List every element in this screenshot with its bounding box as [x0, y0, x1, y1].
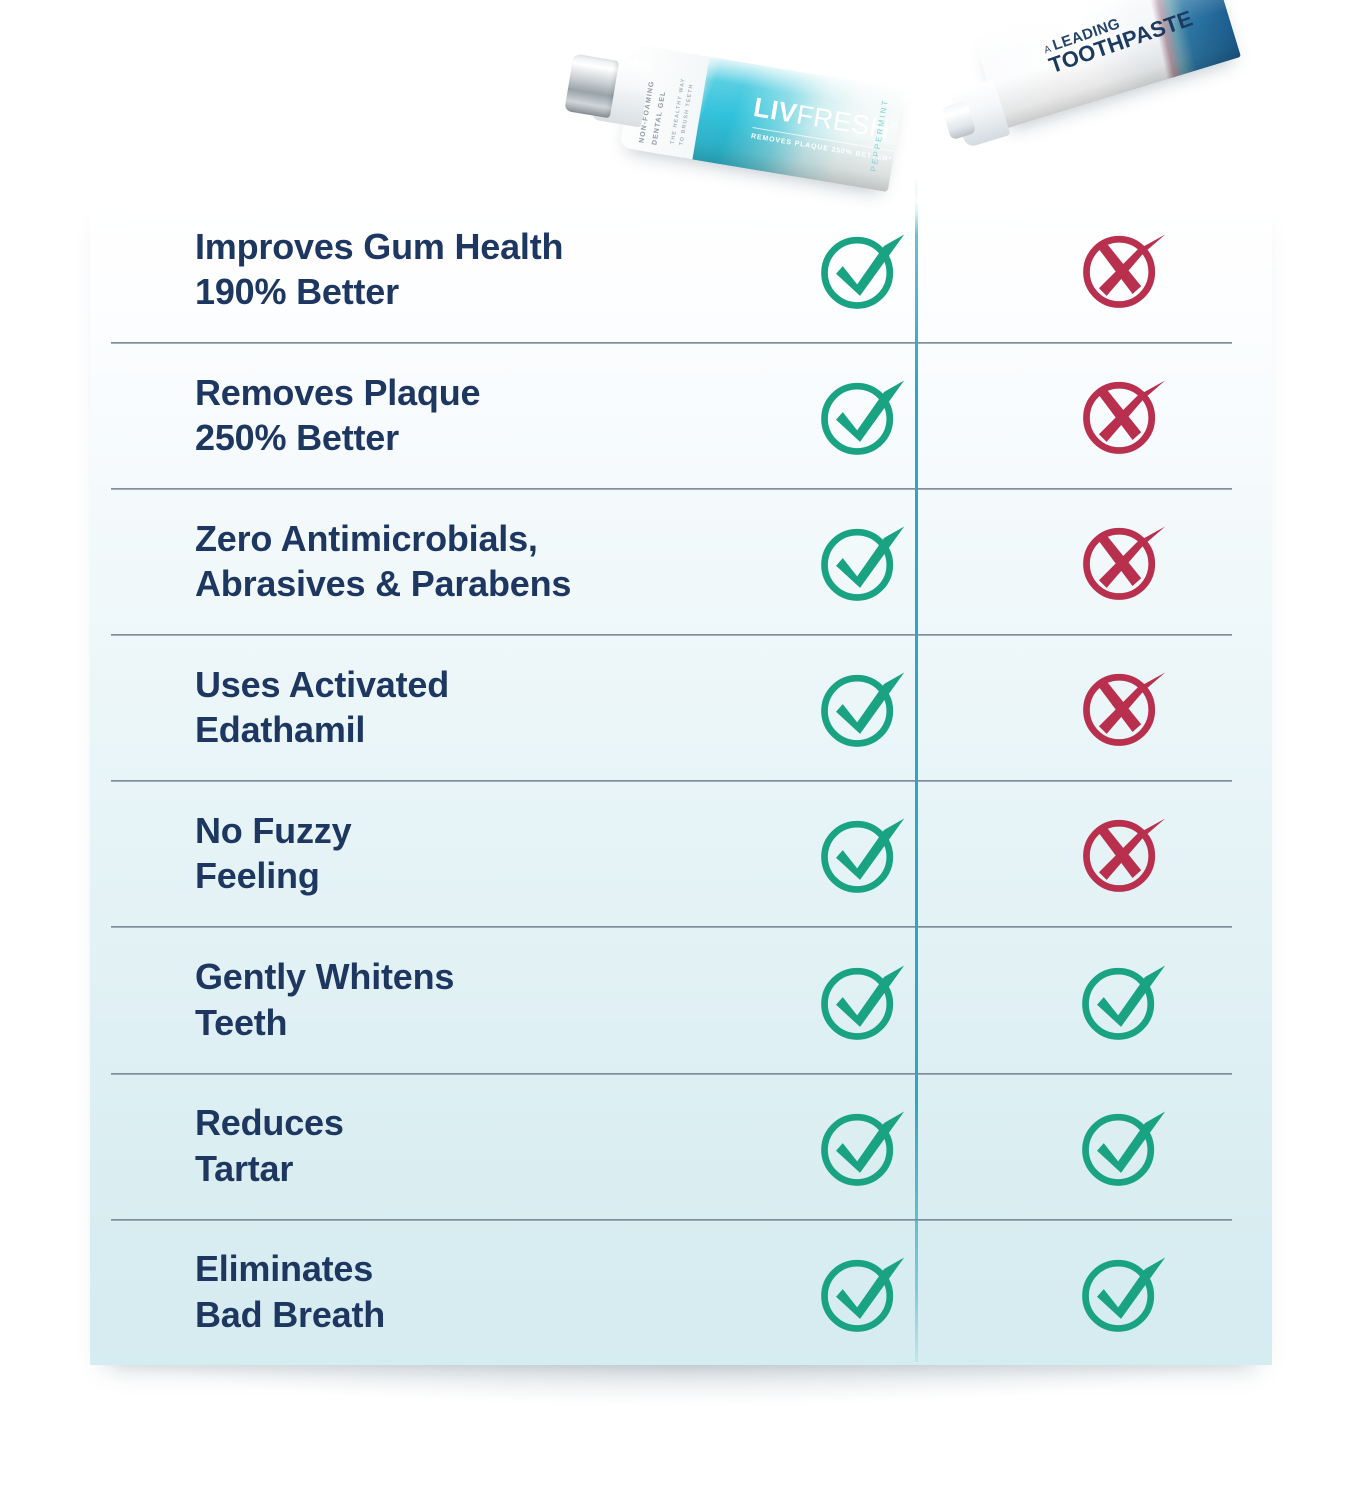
other-mark-cell: [1067, 506, 1177, 616]
livfresh-tube-cap: [562, 42, 652, 136]
other-mark-cell: [1067, 360, 1177, 470]
feature-label: Zero Antimicrobials, Abrasives & Paraben…: [195, 516, 715, 607]
row-divider: [111, 634, 1232, 636]
check-circle-icon: [813, 952, 909, 1048]
comparison-row: Eliminates Bad Breath: [90, 1219, 1272, 1365]
comparison-row: Zero Antimicrobials, Abrasives & Paraben…: [90, 488, 1272, 634]
column-divider: [915, 178, 918, 1362]
comparison-row: Improves Gum Health 190% Better: [90, 196, 1272, 342]
livfresh-tube-image: NON-FOAMING DENTAL GEL THE HEALTHY WAY T…: [568, 18, 908, 198]
check-circle-icon: [1074, 1098, 1170, 1194]
x-circle-icon: [1074, 513, 1170, 609]
row-divider: [111, 488, 1232, 490]
livfresh-cap-metal: [564, 54, 619, 119]
check-circle-icon: [1074, 952, 1170, 1048]
x-circle-icon: [1074, 805, 1170, 901]
check-circle-icon: [813, 513, 909, 609]
check-circle-icon: [813, 805, 909, 901]
comparison-infographic: NON-FOAMING DENTAL GEL THE HEALTHY WAY T…: [0, 0, 1356, 1500]
product-header: NON-FOAMING DENTAL GEL THE HEALTHY WAY T…: [0, 0, 1356, 205]
leading-tube-label: A LEADING TOOTHPASTE: [1042, 0, 1196, 77]
check-circle-icon: [813, 1244, 909, 1340]
feature-label: Improves Gum Health 190% Better: [195, 224, 715, 315]
card-drop-shadow: [120, 1360, 1240, 1406]
check-circle-icon: [813, 1098, 909, 1194]
row-divider: [111, 780, 1232, 782]
other-mark-cell: [1067, 945, 1177, 1055]
other-mark-cell: [1067, 1091, 1177, 1201]
x-circle-icon: [1074, 659, 1170, 755]
check-circle-icon: [813, 659, 909, 755]
livfresh-mark-cell: [806, 506, 916, 616]
comparison-table: Improves Gum Health 190% BetterRemoves P…: [90, 196, 1272, 1365]
comparison-row: Removes Plaque 250% Better: [90, 342, 1272, 488]
other-mark-cell: [1067, 652, 1177, 762]
livfresh-mark-cell: [806, 652, 916, 762]
livfresh-mark-cell: [806, 798, 916, 908]
comparison-row: Gently Whitens Teeth: [90, 926, 1272, 1072]
feature-label: Reduces Tartar: [195, 1100, 715, 1191]
livfresh-mark-cell: [806, 1091, 916, 1201]
other-mark-cell: [1067, 798, 1177, 908]
row-divider: [111, 1073, 1232, 1075]
x-circle-icon: [1074, 367, 1170, 463]
livfresh-mark-cell: [806, 945, 916, 1055]
registered-trademark-icon: ®: [889, 121, 898, 132]
other-mark-cell: [1067, 214, 1177, 324]
feature-label: Uses Activated Edathamil: [195, 662, 715, 753]
check-circle-icon: [813, 367, 909, 463]
feature-label: Removes Plaque 250% Better: [195, 370, 715, 461]
row-divider: [111, 342, 1232, 344]
check-circle-icon: [1074, 1244, 1170, 1340]
row-divider: [111, 926, 1232, 928]
other-mark-cell: [1067, 1237, 1177, 1347]
comparison-rows: Improves Gum Health 190% BetterRemoves P…: [90, 196, 1272, 1365]
feature-label: Gently Whitens Teeth: [195, 954, 715, 1045]
comparison-row: Uses Activated Edathamil: [90, 634, 1272, 780]
livfresh-mark-cell: [806, 1237, 916, 1347]
comparison-row: Reduces Tartar: [90, 1073, 1272, 1219]
feature-label: No Fuzzy Feeling: [195, 808, 715, 899]
livfresh-mark-cell: [806, 360, 916, 470]
livfresh-tube-body: NON-FOAMING DENTAL GEL THE HEALTHY WAY T…: [619, 45, 904, 192]
comparison-row: No Fuzzy Feeling: [90, 780, 1272, 926]
row-divider: [111, 1219, 1232, 1221]
livfresh-logo-liv: LIV: [751, 92, 799, 129]
leading-tube-body: A LEADING TOOTHPASTE: [974, 0, 1241, 130]
feature-label: Eliminates Bad Breath: [195, 1246, 715, 1337]
leading-toothpaste-tube-image: A LEADING TOOTHPASTE: [942, 14, 1232, 194]
x-circle-icon: [1074, 221, 1170, 317]
